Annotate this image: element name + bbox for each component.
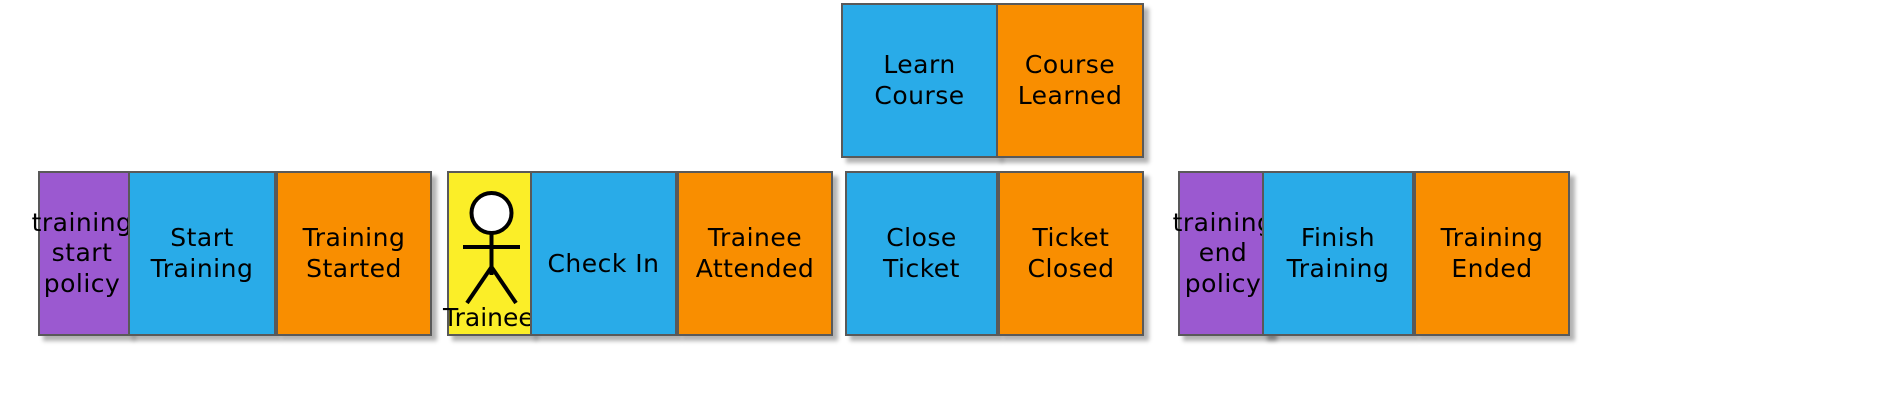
card-line-1: Start (151, 223, 254, 254)
card-line-2: Course (874, 81, 964, 112)
card-line-1: Finish (1287, 223, 1390, 254)
card-trainee-attended-text: Trainee Attended (696, 223, 815, 284)
card-training-end-policy-text: training end policy (1175, 208, 1276, 300)
card-line-1: Ticket (1028, 223, 1115, 254)
card-line-3: policy (32, 269, 133, 300)
card-line-2: Closed (1028, 254, 1115, 285)
card-learn-course[interactable]: Learn Course (841, 3, 998, 158)
card-line-1: training (32, 208, 133, 239)
card-close-ticket-text: Close Ticket (883, 223, 960, 284)
card-line-1: training (1173, 208, 1274, 239)
event-storming-board: Learn Course Course Learned training sta… (0, 0, 1878, 400)
card-line-1: Learn (874, 50, 964, 81)
card-check-in-text: Check In (547, 249, 659, 280)
card-ticket-closed-text: Ticket Closed (1028, 223, 1115, 284)
card-line-2: Started (303, 254, 406, 285)
card-line-1: Training (1441, 223, 1544, 254)
card-line-2: Training (151, 254, 254, 285)
card-training-ended-text: Training Ended (1441, 223, 1544, 284)
card-line-1: Check In (547, 249, 659, 280)
card-finish-training-text: Finish Training (1287, 223, 1390, 284)
card-learn-course-text: Learn Course (874, 50, 964, 111)
card-finish-training[interactable]: Finish Training (1262, 171, 1414, 336)
card-line-3: policy (1173, 269, 1274, 300)
stick-figure-icon (449, 187, 534, 305)
card-line-1: Training (303, 223, 406, 254)
card-trainee-actor-label: Trainee (443, 303, 534, 332)
card-line-2: Attended (696, 254, 815, 285)
card-close-ticket[interactable]: Close Ticket (845, 171, 998, 336)
card-training-ended[interactable]: Training Ended (1414, 171, 1570, 336)
card-check-in[interactable]: Check In (530, 171, 677, 336)
card-training-end-policy[interactable]: training end policy (1178, 171, 1272, 336)
card-line-1: Course (1018, 50, 1123, 81)
card-training-start-policy[interactable]: training start policy (38, 171, 130, 336)
card-line-2: Learned (1018, 81, 1123, 112)
card-line-1: Close (883, 223, 960, 254)
card-start-training-text: Start Training (151, 223, 254, 284)
card-training-start-policy-text: training start policy (34, 208, 135, 300)
card-start-training[interactable]: Start Training (128, 171, 276, 336)
card-line-2: Ended (1441, 254, 1544, 285)
card-line-2: Ticket (883, 254, 960, 285)
card-ticket-closed[interactable]: Ticket Closed (998, 171, 1144, 336)
card-trainee-attended[interactable]: Trainee Attended (677, 171, 833, 336)
card-line-1: Trainee (696, 223, 815, 254)
card-training-started-text: Training Started (303, 223, 406, 284)
card-line-2: Training (1287, 254, 1390, 285)
card-course-learned[interactable]: Course Learned (996, 3, 1144, 158)
card-trainee-actor[interactable]: Trainee (447, 171, 532, 336)
card-line-2: start (32, 238, 133, 269)
card-course-learned-text: Course Learned (1018, 50, 1123, 111)
card-line-2: end (1173, 238, 1274, 269)
card-training-started[interactable]: Training Started (276, 171, 432, 336)
